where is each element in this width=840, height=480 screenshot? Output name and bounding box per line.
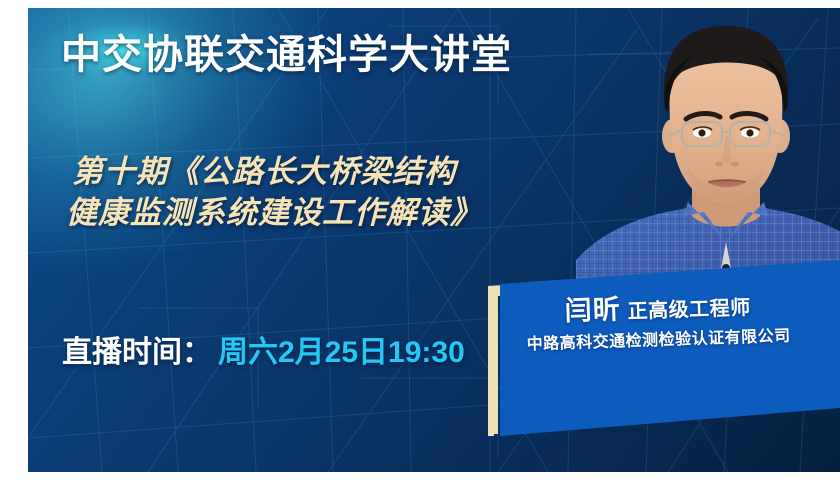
broadcast-time-value: 周六2月25日19:30 — [218, 336, 465, 369]
page-title: 中交协联交通科学大讲堂 — [61, 35, 512, 75]
episode-subtitle-line2: 健康监测系统建设工作解读》 — [66, 193, 592, 234]
speaker-title: 正高级工程师 — [627, 297, 751, 323]
speaker-info-panel: 闫昕正高级工程师 中路高科交通检测检验认证有限公司 — [486, 258, 840, 444]
speaker-name: 闫昕 — [564, 294, 621, 326]
broadcast-time: 直播时间：周六2月25日19:30 — [62, 338, 465, 368]
episode-subtitle: 第十期《公路长大桥梁结构 健康监测系统建设工作解读》 — [72, 152, 592, 234]
poster-root: 中交协联交通科学大讲堂 第十期《公路长大桥梁结构 健康监测系统建设工作解读》 直… — [0, 0, 840, 480]
broadcast-time-label: 直播时间： — [62, 336, 212, 369]
episode-subtitle-line1: 第十期《公路长大桥梁结构 — [72, 154, 456, 189]
